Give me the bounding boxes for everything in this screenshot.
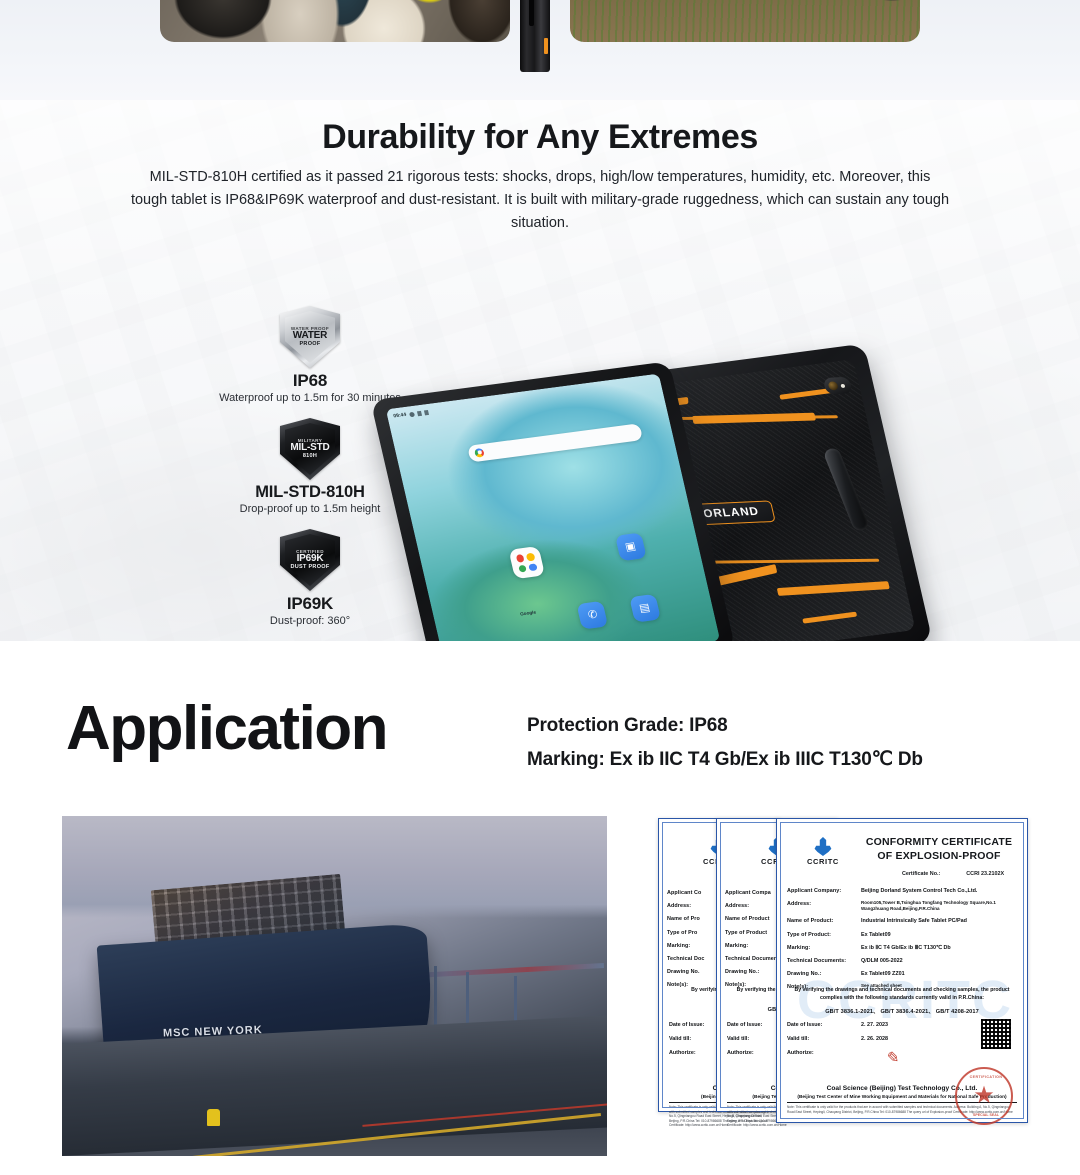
signal-icon <box>417 410 422 415</box>
ccritc-logo: CCRITC <box>807 837 839 866</box>
app-icon-glyph: ▤ <box>638 602 651 614</box>
certificate-number-label: Certificate No.: <box>902 871 940 877</box>
certificate-date-row: Valid till: 2. 26. 2028 <box>787 1035 888 1043</box>
stamp-top-text: CERTIFICATION <box>957 1075 1015 1079</box>
app-icon-glyph: ✆ <box>587 609 599 621</box>
date-label: Date of Issue: <box>787 1021 861 1029</box>
field-value: Ex Tablet09 <box>861 931 891 939</box>
field-label: Name of Product: <box>787 917 861 925</box>
military-standard-shield-icon: MILITARY MIL-STD 810H <box>280 418 340 480</box>
certificate-field: Technical Documents: Q/DLM 005-2022 <box>787 957 1017 965</box>
qr-code <box>981 1019 1011 1049</box>
tablet-screen: 09:44 Google ▣ ✆ <box>386 374 721 641</box>
certificate-field: Marking: Ex ib ⅡC T4 Gb/Ex ib ⅢC T130℃ D… <box>787 944 1017 952</box>
badge-shield-top: CERTIFIED <box>290 550 329 555</box>
badge-name: IP69K <box>210 594 410 614</box>
certificate-title: CONFORMITY CERTIFICATE OF EXPLOSION-PROO… <box>859 835 1019 863</box>
certificate-number: Certificate No.: CCRI 23.2102X <box>887 871 1019 877</box>
google-search-widget[interactable] <box>467 423 643 462</box>
status-time: 09:44 <box>393 412 407 420</box>
spec-marking: Marking: Ex ib IIC T4 Gb/Ex ib IIIC T130… <box>527 743 1072 777</box>
top-image-strip <box>0 0 1080 100</box>
field-label: Type of Product: <box>787 931 861 939</box>
badge-shield-top: MILITARY <box>290 439 329 444</box>
field-value: Ex ib ⅡC T4 Gb/Ex ib ⅢC T130℃ Db <box>861 944 951 952</box>
badge-name: MIL-STD-810H <box>210 483 410 502</box>
field-label: Applicant Company: <box>787 887 861 895</box>
crane-arm <box>414 963 604 978</box>
durability-title: Durability for Any Extremes <box>0 118 1080 157</box>
date-value: 2. 26. 2028 <box>861 1035 888 1043</box>
spec-protection-grade: Protection Grade: IP68 <box>527 709 1072 743</box>
tablet-product-image: DORLAND 09:44 Google <box>395 355 925 641</box>
workers-boots-photo <box>570 0 920 42</box>
application-title: Application <box>66 693 387 764</box>
status-bar: 09:44 <box>393 378 656 420</box>
google-logo-icon <box>474 447 485 457</box>
field-label: Technical Documents: <box>787 957 861 965</box>
certificate-field: Type of Product: Ex Tablet09 <box>787 931 1017 939</box>
tablet-side-edge-image <box>520 0 550 72</box>
badge-name: IP68 <box>210 371 410 391</box>
field-label: Drawing No.: <box>787 970 861 978</box>
waterproof-shield-icon: WATER PROOF WATER PROOF <box>280 306 340 368</box>
certificate-date-row: Date of Issue: 2. 27. 2023 <box>787 1021 888 1029</box>
badge-description: Dust-proof: 360° <box>210 615 410 627</box>
certificate-field: Drawing No.: Ex Tablet09 ZZ01 <box>787 970 1017 978</box>
certification-badge-list: WATER PROOF WATER PROOF IP68 Waterproof … <box>210 306 410 641</box>
date-label: Authorize: <box>787 1049 861 1057</box>
app-icon-files[interactable]: ▤ <box>629 594 661 623</box>
top-left-photo <box>160 0 510 42</box>
certificate-field-list: Applicant Company: Beijing Dorland Syste… <box>787 887 1017 997</box>
durability-section: Durability for Any Extremes MIL-STD-810H… <box>0 100 1080 641</box>
certificate-stack: CCRITC Applicant Co Address: Name of Pro… <box>658 818 1028 1158</box>
certificate-title-line1: CONFORMITY CERTIFICATE <box>859 835 1019 849</box>
field-label: Address: <box>787 900 861 912</box>
date-value: 2. 27. 2023 <box>861 1021 888 1029</box>
certificate-field: Address: Room105,Tower B,Tsinghua Tongfa… <box>787 900 1017 912</box>
field-value: Beijing Dorland System Control Tech Co.,… <box>861 887 977 895</box>
stamp-bottom-text: SPECIAL SEAL <box>957 1113 1015 1117</box>
date-label: Valid till: <box>787 1035 861 1043</box>
badge-ip69k: CERTIFIED IP69K DUST PROOF IP69K Dust-pr… <box>210 529 410 627</box>
authorizer-signature: ✎ <box>884 1041 944 1071</box>
ccritc-mark-icon <box>813 837 833 856</box>
app-icon-glyph: ▣ <box>624 541 637 553</box>
durability-description: MIL-STD-810H certified as it passed 21 r… <box>130 166 950 235</box>
mooring-bollard <box>207 1109 220 1126</box>
badge-shield-line2: DUST PROOF <box>290 565 329 571</box>
field-label: Marking: <box>787 944 861 952</box>
person-in-vehicle-photo <box>160 0 510 42</box>
container-ship-photo: MSC NEW YORK PANAMA <box>62 816 607 1156</box>
field-value: Ex Tablet09 ZZ01 <box>861 970 905 978</box>
badge-shield-top: WATER PROOF <box>291 327 329 332</box>
google-app-folder-icon[interactable] <box>508 546 545 579</box>
app-icon-phone[interactable]: ✆ <box>577 601 609 630</box>
field-value: Room105,Tower B,Tsinghua Tongfang Techno… <box>861 900 1017 912</box>
application-section: Application Protection Grade: IP68 Marki… <box>0 641 1080 1175</box>
star-icon: ★ <box>973 1084 995 1108</box>
certificate-date-row: Authorize: <box>787 1049 888 1057</box>
badge-description: Drop-proof up to 1.5m height <box>210 503 410 515</box>
field-value: Industrial Intrinsically Safe Tablet PC/… <box>861 917 967 925</box>
certificate-verify-text: By verifying the drawings and technical … <box>787 987 1017 1002</box>
certificate-field: Name of Product: Industrial Intrinsicall… <box>787 917 1017 925</box>
app-folder-label: Google <box>520 610 537 617</box>
badge-shield-line2: PROOF <box>291 342 329 348</box>
certificate-number-value: CCRI 23.2102X <box>966 871 1004 877</box>
certificate-field: Applicant Company: Beijing Dorland Syste… <box>787 887 1017 895</box>
top-right-photo <box>570 0 920 42</box>
ccritc-label: CCRITC <box>807 857 839 866</box>
official-red-stamp: CERTIFICATION ★ SPECIAL SEAL <box>955 1067 1013 1125</box>
badge-shield-line2: 810H <box>290 454 329 460</box>
wifi-icon <box>409 411 415 417</box>
field-value: Q/DLM 005-2022 <box>861 957 903 965</box>
dustproof-shield-icon: CERTIFIED IP69K DUST PROOF <box>280 529 340 591</box>
certificate-standards: GB/T 3836.1-2021、 GB/T 3836.4-2021、 GB/T… <box>787 1007 1017 1015</box>
certificate-card-front: CCRITC CCRITC CONFORMITY CERTIFICATE OF … <box>776 818 1028 1123</box>
certificate-title-line2: OF EXPLOSION-PROOF <box>859 849 1019 863</box>
application-spec-list: Protection Grade: IP68 Marking: Ex ib II… <box>527 709 1072 777</box>
battery-icon <box>424 409 429 414</box>
app-icon-camera[interactable]: ▣ <box>615 533 647 562</box>
certificate-date-list: Date of Issue: 2. 27. 2023 Valid till: 2… <box>787 1021 888 1063</box>
badge-ip68: WATER PROOF WATER PROOF IP68 Waterproof … <box>210 306 410 404</box>
